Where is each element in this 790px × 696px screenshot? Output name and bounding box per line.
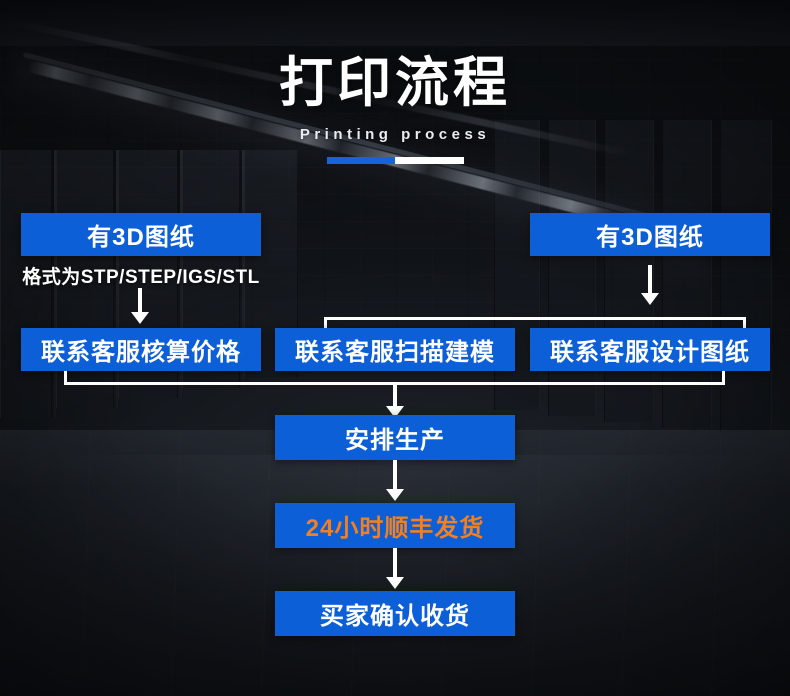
flow-box-confirm-receipt: 买家确认收货 [275,591,515,636]
header: 打印流程 Printing process [0,55,790,164]
flow-box-has-drawing-left: 有3D图纸 [21,213,261,256]
flow-box-shipping: 24小时顺丰发货 [275,503,515,548]
divider-segment-blue [327,157,396,164]
flow-box-has-drawing-right: 有3D图纸 [530,213,770,256]
connector-production-vertical [393,382,397,408]
divider-segment-white [395,157,464,164]
connector-left-vertical [138,288,142,314]
connector-right-vertical [648,265,652,295]
flow-box-design-drawing: 联系客服设计图纸 [530,328,770,371]
flow-box-production: 安排生产 [275,415,515,460]
connector-shipping-arrow [386,489,404,501]
format-subtext: 格式为STP/STEP/IGS/STL [21,262,261,289]
connector-left-arrow [131,312,149,324]
page-subtitle: Printing process [0,126,790,143]
flow-box-scan-model: 联系客服扫描建模 [275,328,515,371]
connector-receipt-arrow [386,577,404,589]
flow-box-quote: 联系客服核算价格 [21,328,261,371]
bracket-top-horizontal [324,317,746,320]
connector-right-arrow [641,293,659,305]
page-title: 打印流程 [0,55,790,112]
connector-shipping-vertical [393,460,397,491]
title-divider [327,157,464,164]
connector-receipt-vertical [393,548,397,579]
printing-process-infographic: 打印流程 Printing process 有3D图纸 有3D图纸 格式为STP… [0,0,790,696]
